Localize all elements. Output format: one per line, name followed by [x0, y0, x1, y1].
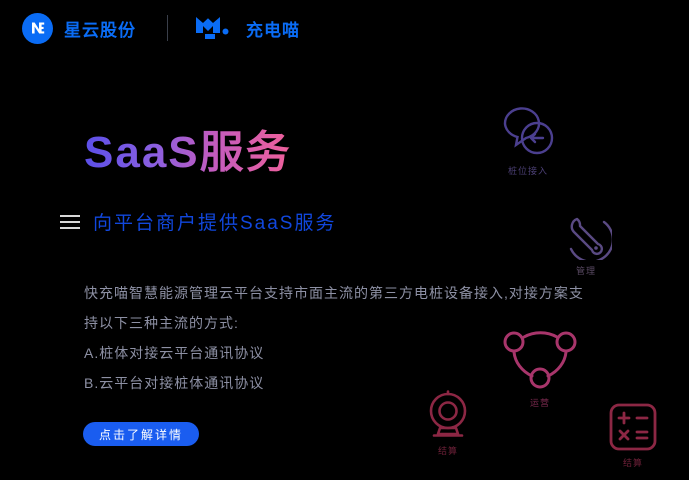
brand-xingyun[interactable]: 星云股份: [22, 13, 136, 44]
learn-more-button[interactable]: 点击了解详情: [83, 422, 199, 446]
feature-label: 结算: [623, 456, 643, 469]
brand-chongdianmiao[interactable]: 充电喵: [194, 15, 300, 41]
charging-pile-icon: [424, 390, 472, 440]
xingyun-logo-icon: [22, 13, 53, 44]
chongdianmiao-logo-icon: [194, 15, 238, 41]
feature-label: 管理: [576, 264, 596, 277]
feature-label: 桩位接入: [508, 164, 548, 177]
brand-chongdianmiao-label: 充电喵: [246, 16, 300, 41]
brand-xingyun-label: 星云股份: [64, 16, 136, 41]
protocol-list: A.桩体对接云平台通讯协议 B.云平台对接桩体通讯协议: [84, 338, 264, 398]
page-subtitle: 向平台商户提供SaaS服务: [93, 208, 336, 235]
list-item: A.桩体对接云平台通讯协议: [84, 338, 264, 368]
feature-settlement: 结算: [607, 402, 659, 469]
feature-pile-access: 桩位接入: [497, 104, 559, 177]
feature-label: 运营: [530, 396, 550, 409]
list-item: B.云平台对接桩体通讯协议: [84, 368, 264, 398]
header-divider: [167, 15, 168, 41]
feature-operations: 运营: [500, 326, 580, 409]
feature-label: 结算: [438, 444, 458, 457]
menu-icon: [60, 215, 80, 229]
feature-management: 管理: [560, 210, 612, 277]
subtitle-row: 向平台商户提供SaaS服务: [60, 208, 336, 235]
page-title: SaaS服务: [84, 129, 292, 177]
feature-charging-pile: 结算: [424, 390, 472, 457]
calculator-icon: [607, 402, 659, 452]
wrench-icon: [560, 210, 612, 260]
page-header: 星云股份 充电喵: [0, 0, 689, 56]
network-nodes-icon: [500, 326, 580, 392]
speech-bubbles-icon: [497, 104, 559, 160]
